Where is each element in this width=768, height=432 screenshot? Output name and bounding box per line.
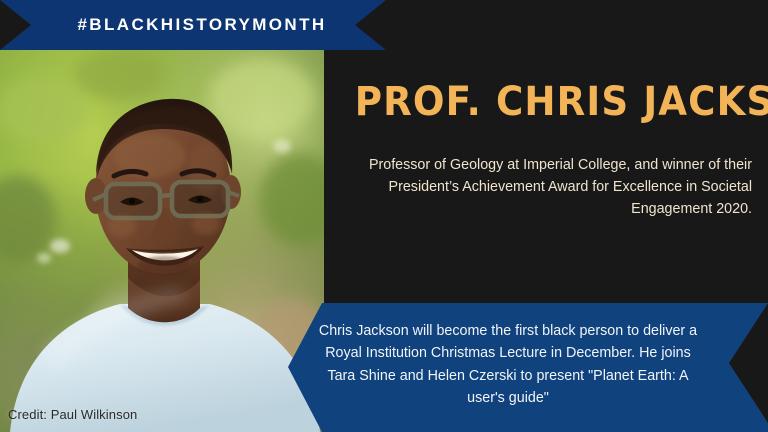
portrait-photo-image	[0, 50, 324, 432]
hashtag-banner-label: #BLACKHISTORYMONTH	[59, 15, 326, 35]
black-history-month-poster: #BLACKHISTORYMONTH	[0, 0, 768, 432]
portrait-photo: Credit: Paul Wilkinson	[0, 50, 324, 432]
hashtag-banner: #BLACKHISTORYMONTH	[0, 0, 386, 50]
callout-text: Chris Jackson will become the first blac…	[318, 320, 698, 409]
photo-credit: Credit: Paul Wilkinson	[8, 407, 137, 422]
page-title: PROF. CHRIS JACKSON	[355, 82, 746, 122]
subtitle-paragraph: Professor of Geology at Imperial College…	[338, 154, 752, 220]
